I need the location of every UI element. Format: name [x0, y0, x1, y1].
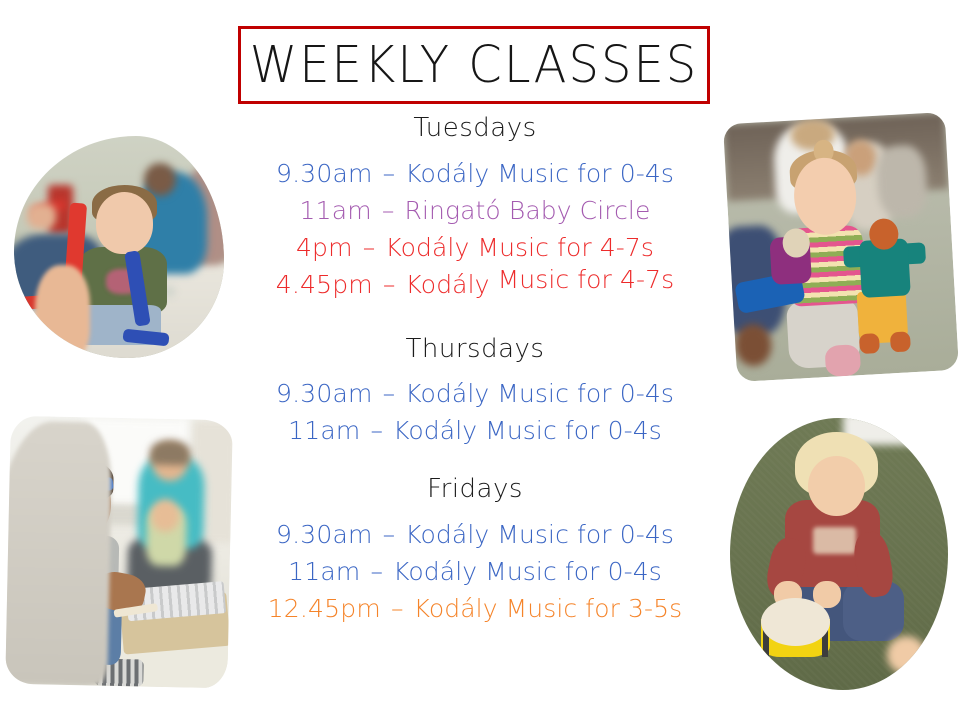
class-time: 11am — [288, 416, 360, 445]
photo-scene — [14, 136, 224, 358]
photo-layer-background-child-2 — [875, 144, 928, 219]
class-time: 4pm — [296, 233, 353, 262]
class-line[interactable]: 11am – Kodály Music for 0-4s — [232, 553, 718, 590]
class-name: Ringató Baby Circle — [405, 196, 651, 225]
photo-layer-background-hand — [27, 203, 56, 230]
class-dash: – — [361, 233, 378, 262]
page-title-box: WEEKLY CLASSES — [238, 26, 710, 104]
class-time: 12.45pm — [268, 594, 381, 623]
class-line[interactable]: 4.45pm – Kodály Music for 4-7s — [232, 266, 718, 303]
day-heading-thursdays: Thursdays — [232, 333, 718, 366]
class-line[interactable]: 9.30am – Kodály Music for 0-4s — [232, 516, 718, 553]
class-line[interactable]: 12.45pm – Kodály Music for 3-5s — [232, 590, 718, 627]
photo-child-with-glockenspiel — [5, 416, 233, 689]
class-line[interactable]: 11am – Ringató Baby Circle — [232, 192, 718, 229]
photo-layer-baby-head — [151, 499, 181, 532]
day-block-tuesdays: Tuesdays 9.30am – Kodály Music for 0-4s … — [232, 112, 718, 303]
class-name: Kodály Music for 0-4s — [393, 416, 662, 445]
class-time: 4.45pm — [276, 270, 373, 299]
day-heading-fridays: Fridays — [232, 473, 718, 506]
class-time: 9.30am — [276, 379, 373, 408]
photo-layer-foot — [887, 636, 926, 674]
class-line[interactable]: 9.30am – Kodály Music for 0-4s — [232, 375, 718, 412]
class-name: Kodály Music for 0-4s — [405, 520, 674, 549]
page-title: WEEKLY CLASSES — [250, 40, 698, 90]
photo-toddler-with-knitted-dolls — [723, 112, 959, 382]
class-time: 9.30am — [276, 520, 373, 549]
class-name: Kodály Music for 4-7s — [385, 233, 654, 262]
photo-layer-doll-foot-left — [859, 333, 880, 355]
class-dash: – — [369, 416, 386, 445]
class-time: 11am — [300, 196, 372, 225]
photo-boy-with-rhythm-sticks — [14, 136, 224, 358]
day-heading-tuesdays: Tuesdays — [232, 112, 718, 145]
class-time: 9.30am — [276, 159, 373, 188]
class-list-tuesdays: 9.30am – Kodály Music for 0-4s 11am – Ri… — [232, 155, 718, 303]
class-dash: – — [369, 557, 386, 586]
class-dash: – — [389, 594, 406, 623]
photo-layer-head — [96, 192, 153, 254]
class-dash: – — [381, 159, 398, 188]
class-name: Kodály Music for 0-4s — [405, 159, 674, 188]
class-line[interactable]: 11am – Kodály Music for 0-4s — [232, 412, 718, 449]
class-line[interactable]: 9.30am – Kodály Music for 0-4s — [232, 155, 718, 192]
class-dash: – — [381, 270, 398, 299]
class-name: Kodály — [406, 270, 498, 299]
photo-layer-top-print — [813, 527, 857, 554]
day-block-fridays: Fridays 9.30am – Kodály Music for 0-4s 1… — [232, 473, 718, 627]
class-name: Kodály Music for 0-4s — [405, 379, 674, 408]
photo-layer-hand — [734, 323, 772, 366]
photo-child-with-drum — [730, 418, 948, 690]
day-block-thursdays: Thursdays 9.30am – Kodály Music for 0-4s… — [232, 333, 718, 450]
class-dash: – — [381, 520, 398, 549]
class-schedule: Tuesdays 9.30am – Kodály Music for 0-4s … — [232, 112, 718, 627]
class-list-thursdays: 9.30am – Kodály Music for 0-4s 11am – Ko… — [232, 375, 718, 449]
photo-scene — [730, 418, 948, 690]
class-time: 11am — [288, 557, 360, 586]
class-name: Kodály Music for 0-4s — [393, 557, 662, 586]
poster-canvas: WEEKLY CLASSES Tuesdays 9.30am – Kodály … — [0, 0, 962, 708]
class-name: Kodály Music for 3-5s — [414, 594, 683, 623]
photo-layer-grey-cloth — [5, 421, 113, 686]
photo-layer-adult-hand — [35, 265, 90, 358]
photo-scene — [723, 112, 959, 382]
class-list-fridays: 9.30am – Kodály Music for 0-4s 11am – Ko… — [232, 516, 718, 627]
class-dash: – — [380, 196, 397, 225]
class-dash: – — [381, 379, 398, 408]
photo-scene — [5, 416, 233, 689]
photo-layer-adult-hair — [150, 440, 190, 465]
photo-layer-sock — [824, 344, 861, 377]
photo-layer-head — [808, 456, 865, 516]
class-name-continued: Music for 4-7s — [498, 265, 675, 294]
class-line[interactable]: 4pm – Kodály Music for 4-7s — [232, 229, 718, 266]
